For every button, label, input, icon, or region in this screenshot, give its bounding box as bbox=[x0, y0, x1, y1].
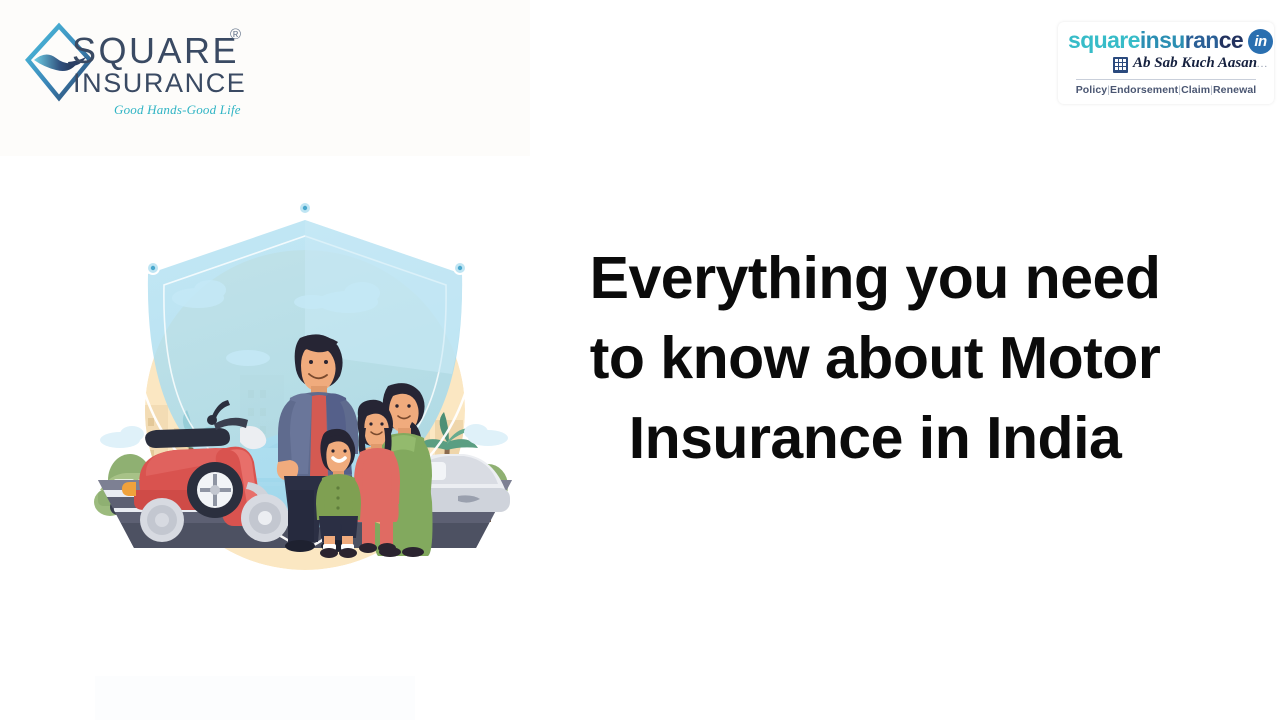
registered-mark: ® bbox=[230, 26, 241, 43]
page-title-line2: to know about Motor bbox=[530, 318, 1220, 398]
squareinsurance-badge[interactable]: squareinsurance in Ab Sab Kuch Aasan... … bbox=[1058, 22, 1274, 104]
grid-icon bbox=[1113, 57, 1128, 73]
badge-divider bbox=[1076, 79, 1256, 80]
slide-canvas: SQUARE ® INSURANCE Good Hands-Good Life … bbox=[0, 0, 1280, 720]
badge-subtitle: Ab Sab Kuch Aasan... bbox=[1133, 55, 1268, 72]
page-title-line3: Insurance in India bbox=[530, 398, 1220, 478]
page-title: Everything you need to know about Motor … bbox=[530, 238, 1220, 478]
badge-wordmark: squareinsurance bbox=[1068, 26, 1243, 55]
linkedin-icon[interactable]: in bbox=[1248, 29, 1273, 54]
badge-wordmark-part3: ran bbox=[1185, 27, 1219, 53]
badge-link-claim[interactable]: Claim bbox=[1181, 84, 1210, 96]
brand-wordmark: SQUARE ® INSURANCE Good Hands-Good Life bbox=[72, 18, 248, 110]
brand-name-line1: SQUARE bbox=[72, 33, 239, 69]
badge-link-endorsement[interactable]: Endorsement bbox=[1110, 84, 1178, 96]
page-title-line1: Everything you need bbox=[530, 238, 1220, 318]
badge-wordmark-part1: square bbox=[1068, 27, 1140, 53]
brand-logo[interactable]: SQUARE ® INSURANCE Good Hands-Good Life bbox=[18, 12, 248, 112]
badge-link-renewal[interactable]: Renewal bbox=[1213, 84, 1256, 96]
badge-link-policy[interactable]: Policy bbox=[1076, 84, 1108, 96]
badge-wordmark-part4: ce bbox=[1219, 27, 1243, 53]
badge-subtitle-text: Ab Sab Kuch Aasan bbox=[1133, 55, 1257, 71]
brand-name-line2: INSURANCE bbox=[73, 70, 246, 97]
family-with-shield-vehicles-illustration bbox=[90, 190, 520, 570]
brand-tagline: Good Hands-Good Life bbox=[114, 102, 241, 118]
bottom-background-tint bbox=[95, 676, 415, 720]
badge-service-links: Policy|Endorsement|Claim|Renewal bbox=[1058, 84, 1274, 96]
badge-subtitle-dots: ... bbox=[1257, 58, 1268, 70]
badge-wordmark-part2: insu bbox=[1140, 27, 1185, 53]
